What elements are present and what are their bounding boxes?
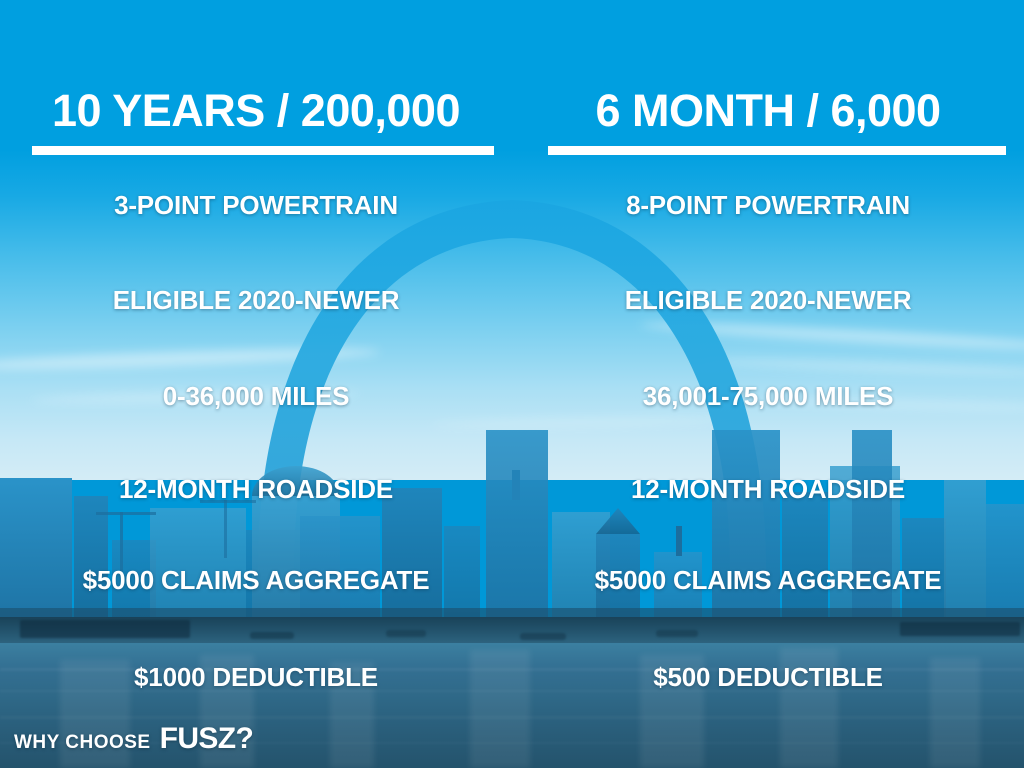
plan-feature: $1000 DEDUCTIBLE [0, 662, 512, 693]
plan-column-10-year: 10 YEARS / 200,000 3-POINT POWERTRAIN EL… [0, 0, 512, 768]
plan-feature: 0-36,000 MILES [0, 381, 512, 412]
plan-feature: $5000 CLAIMS AGGREGATE [0, 565, 512, 596]
plan-feature: 8-POINT POWERTRAIN [512, 190, 1024, 221]
heading-underline-left [32, 146, 494, 155]
plan-feature: 3-POINT POWERTRAIN [0, 190, 512, 221]
content-layer: 10 YEARS / 200,000 3-POINT POWERTRAIN EL… [0, 0, 1024, 768]
plan-feature: $5000 CLAIMS AGGREGATE [512, 565, 1024, 596]
plan-feature: ELIGIBLE 2020-NEWER [0, 285, 512, 316]
plan-feature: ELIGIBLE 2020-NEWER [512, 285, 1024, 316]
plan-feature: 36,001-75,000 MILES [512, 381, 1024, 412]
slide-canvas: 10 YEARS / 200,000 3-POINT POWERTRAIN EL… [0, 0, 1024, 768]
plan-feature: 12-MONTH ROADSIDE [0, 474, 512, 505]
plan-feature: $500 DEDUCTIBLE [512, 662, 1024, 693]
plan-heading-10-year: 10 YEARS / 200,000 [0, 88, 512, 133]
plan-feature: 12-MONTH ROADSIDE [512, 474, 1024, 505]
brand-logo: WHY CHOOSE FUSZ? [14, 722, 253, 756]
plan-column-6-month: 6 MONTH / 6,000 8-POINT POWERTRAIN ELIGI… [512, 0, 1024, 768]
logo-prefix-text: WHY CHOOSE [14, 732, 151, 754]
logo-brand-text: FUSZ? [160, 722, 254, 756]
plan-comparison: 10 YEARS / 200,000 3-POINT POWERTRAIN EL… [0, 0, 1024, 768]
heading-underline-right [548, 146, 1006, 155]
plan-heading-6-month: 6 MONTH / 6,000 [512, 88, 1024, 133]
